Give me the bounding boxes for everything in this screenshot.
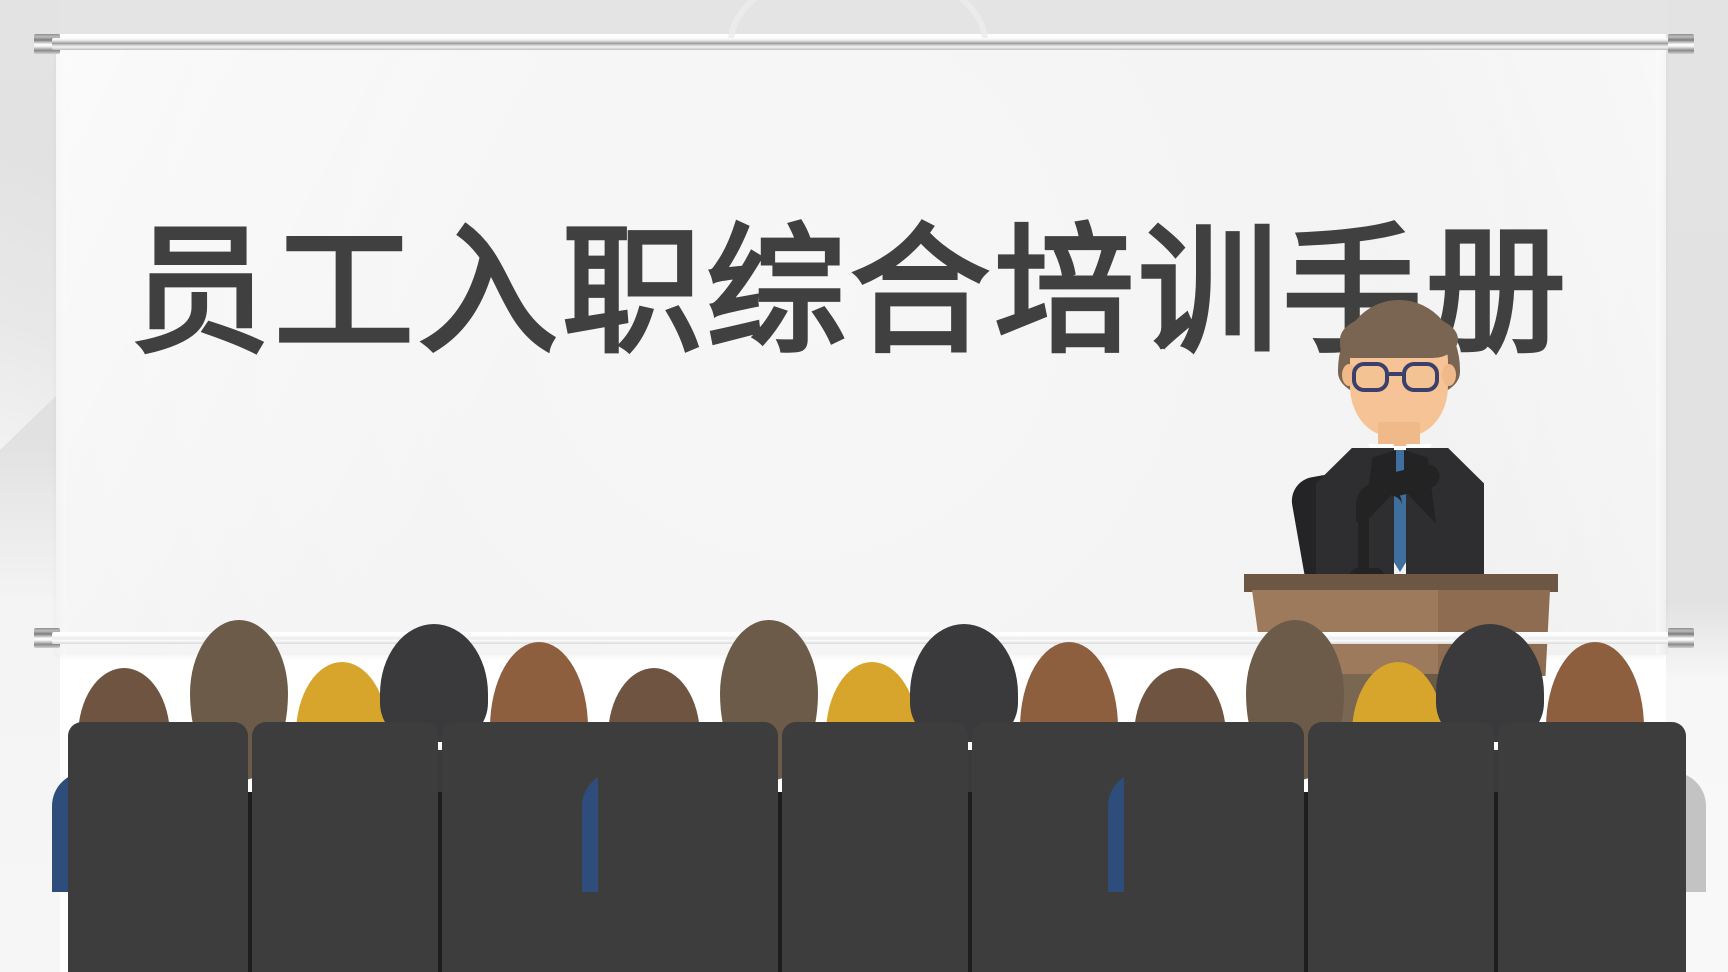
presenter-ear-right bbox=[1442, 364, 1456, 386]
screen-edge-right bbox=[1656, 40, 1666, 655]
glasses-lens-right-icon bbox=[1402, 362, 1439, 392]
seated-audience bbox=[0, 612, 1728, 972]
screen-edge-left bbox=[56, 40, 66, 655]
audience-group bbox=[1096, 612, 1686, 972]
audience-chair bbox=[1498, 722, 1686, 972]
audience-chair bbox=[252, 722, 438, 972]
glasses-lens-left-icon bbox=[1352, 362, 1389, 392]
glasses-bridge-icon bbox=[1389, 372, 1402, 376]
audience-chair bbox=[68, 722, 248, 972]
podium-top bbox=[1244, 574, 1558, 592]
audience-chair bbox=[782, 722, 968, 972]
page-title: 员工入职综合培训手册 bbox=[130, 222, 1390, 362]
presenter-hair-fringe bbox=[1340, 314, 1458, 358]
rail-bar bbox=[52, 38, 1676, 50]
audience-chair bbox=[1308, 722, 1494, 972]
slide-canvas: 员工入职综合培训手册 bbox=[0, 0, 1728, 972]
audience-group bbox=[40, 612, 630, 972]
screen-top-rail bbox=[34, 34, 1694, 54]
rail-cap-right bbox=[1668, 34, 1694, 54]
audience-chair bbox=[1124, 722, 1304, 972]
audience-group bbox=[570, 612, 1160, 972]
audience-chair bbox=[598, 722, 778, 972]
